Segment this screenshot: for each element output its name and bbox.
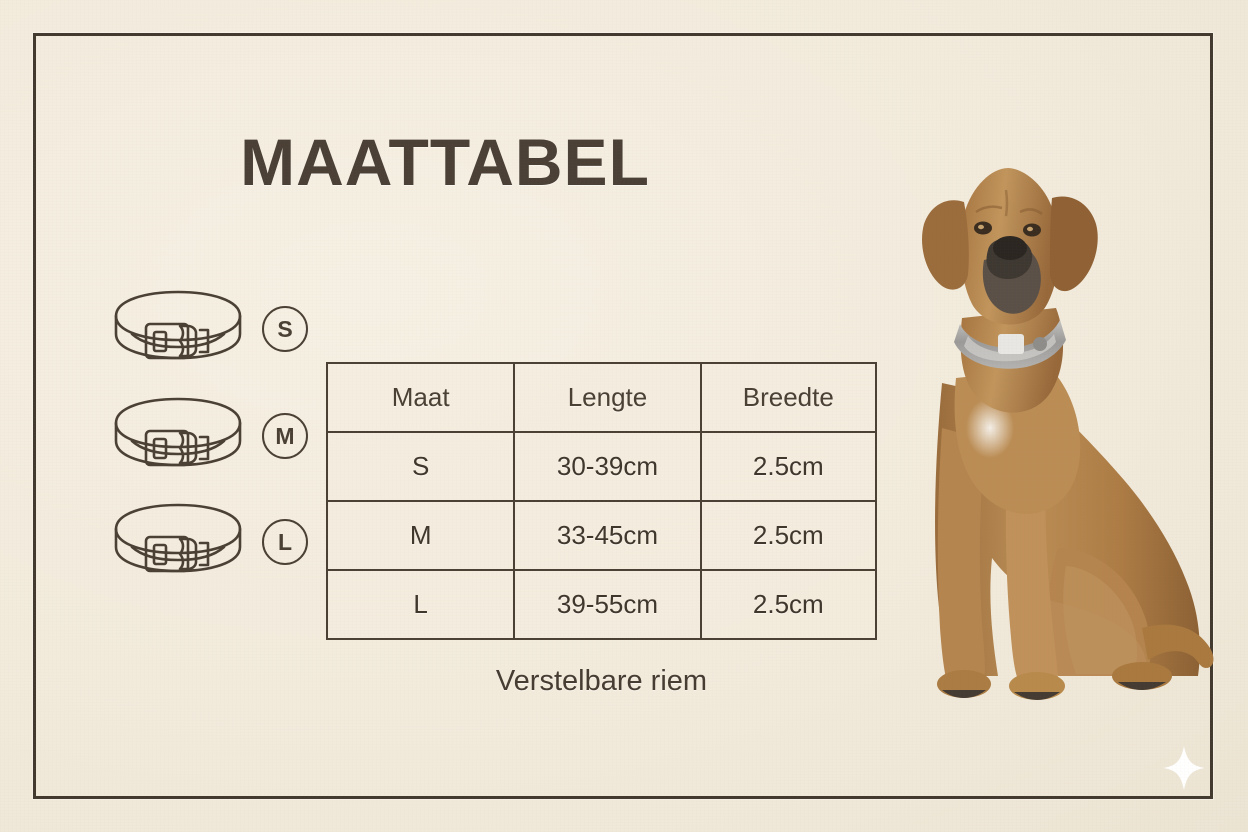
sparkle-icon <box>1162 745 1206 791</box>
dog-collar-icon <box>108 499 248 585</box>
size-badge-m: M <box>262 413 308 459</box>
cell-breedte: 2.5cm <box>701 501 876 570</box>
cell-lengte: 33-45cm <box>514 501 700 570</box>
table-row: L 39-55cm 2.5cm <box>327 570 876 639</box>
cell-maat: S <box>327 432 514 501</box>
size-badge-s: S <box>262 306 308 352</box>
table-row: S 30-39cm 2.5cm <box>327 432 876 501</box>
column-header-maat: Maat <box>327 363 514 432</box>
cell-lengte: 30-39cm <box>514 432 700 501</box>
dog-photo <box>880 128 1220 733</box>
size-icon-row-s: S <box>108 283 318 375</box>
dog-collar-icon <box>108 286 248 372</box>
cell-breedte: 2.5cm <box>701 570 876 639</box>
size-badge-l: L <box>262 519 308 565</box>
cell-maat: L <box>327 570 514 639</box>
caption-text: Verstelbare riem <box>326 665 877 698</box>
dog-collar-icon <box>108 393 248 479</box>
page-title: MAATTABEL <box>0 124 890 200</box>
size-icon-row-m: M <box>108 390 318 482</box>
cell-maat: M <box>327 501 514 570</box>
column-header-lengte: Lengte <box>514 363 700 432</box>
table-header-row: Maat Lengte Breedte <box>327 363 876 432</box>
size-chart-table: Maat Lengte Breedte S 30-39cm 2.5cm M 33… <box>326 362 877 640</box>
size-icon-row-l: L <box>108 496 318 588</box>
cell-lengte: 39-55cm <box>514 570 700 639</box>
poster-canvas: MAATTABEL S <box>0 0 1248 832</box>
column-header-breedte: Breedte <box>701 363 876 432</box>
cell-breedte: 2.5cm <box>701 432 876 501</box>
table-row: M 33-45cm 2.5cm <box>327 501 876 570</box>
